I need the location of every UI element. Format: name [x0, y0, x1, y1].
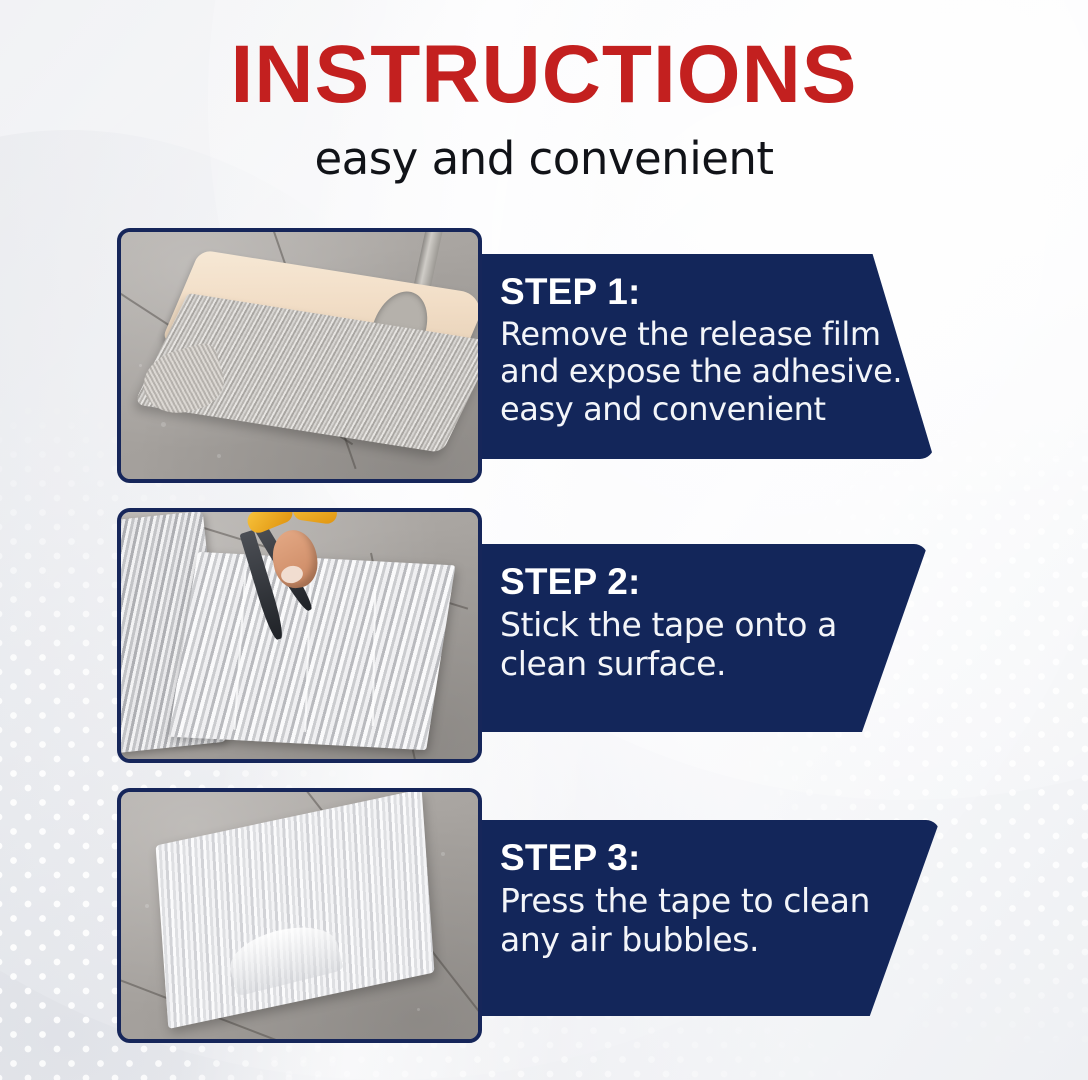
step-photo: [117, 508, 482, 763]
poster-header: INSTRUCTIONS easy and convenient: [0, 34, 1088, 181]
steps-list: STEP 1: Remove the release film and expo…: [0, 228, 1088, 1068]
step-label: STEP 2:: [500, 562, 898, 602]
step-row: STEP 1: Remove the release film and expo…: [0, 228, 1088, 483]
instructions-poster: INSTRUCTIONS easy and convenient STEP 1:…: [0, 0, 1088, 1080]
foil-tape-sheet-shape: [169, 552, 456, 750]
page-subtitle: easy and convenient: [0, 136, 1088, 181]
step-row: STEP 3: Press the tape to clean any air …: [0, 788, 1088, 1043]
step-body: Press the tape to clean any air bubbles.: [500, 882, 910, 960]
step-body: Remove the release film and expose the a…: [500, 316, 904, 428]
step-photo: [117, 228, 482, 483]
step-photo: [117, 788, 482, 1043]
step-label: STEP 1:: [500, 272, 904, 312]
step-row: STEP 2: Stick the tape onto a clean surf…: [0, 508, 1088, 763]
page-title: INSTRUCTIONS: [0, 34, 1088, 116]
step-label: STEP 3:: [500, 838, 910, 878]
step-body: Stick the tape onto a clean surface.: [500, 606, 898, 684]
